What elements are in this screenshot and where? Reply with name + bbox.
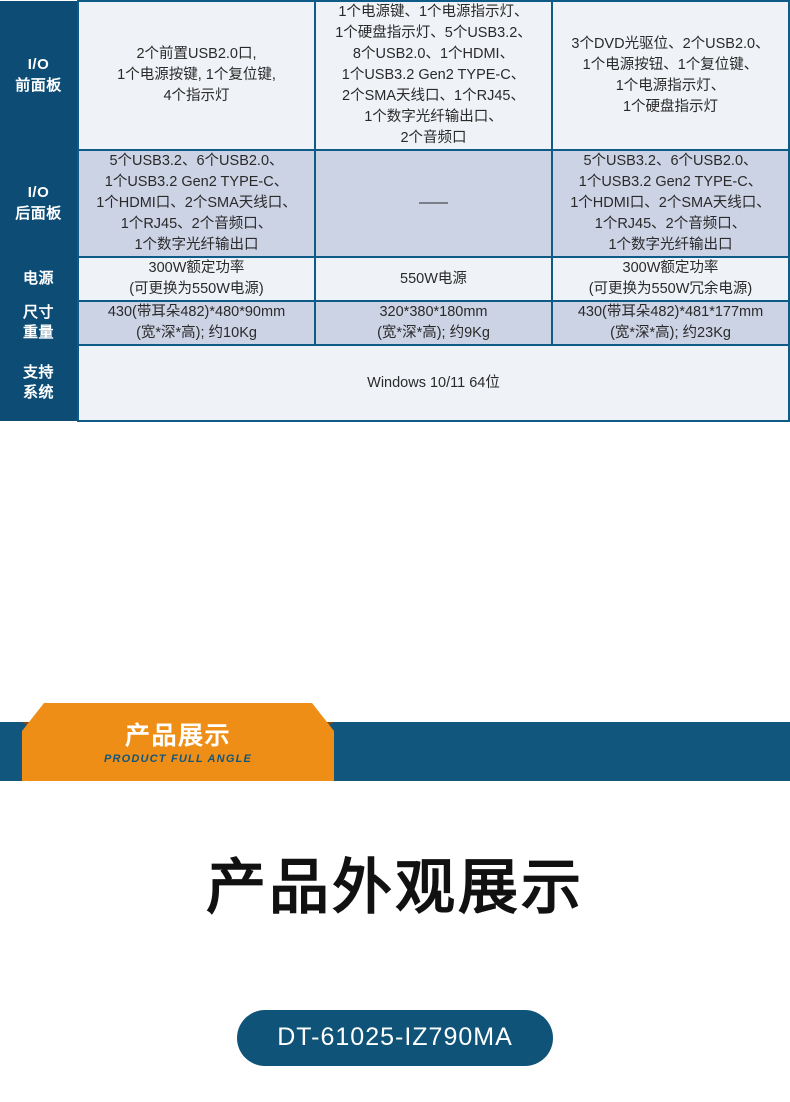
cell-line: 1个USB3.2 Gen2 TYPE-C、 xyxy=(79,172,314,193)
table-row: I/O 后面板 5个USB3.2、6个USB2.0、 1个USB3.2 Gen2… xyxy=(0,150,789,257)
cell-power-col3: 300W额定功率 (可更换为550W冗余电源) xyxy=(552,257,789,301)
cell-line: 550W电源 xyxy=(316,269,551,290)
cell-line: 1个USB3.2 Gen2 TYPE-C、 xyxy=(316,65,551,86)
row-header-line: 后面板 xyxy=(0,204,77,224)
ribbon-content: 产品展示 PRODUCT FULL ANGLE xyxy=(22,703,334,781)
cell-io-rear-col1: 5个USB3.2、6个USB2.0、 1个USB3.2 Gen2 TYPE-C、… xyxy=(78,150,315,257)
row-header-line: 电源 xyxy=(0,269,77,289)
cell-supported-os: Windows 10/11 64位 xyxy=(78,345,789,421)
cell-line: (宽*深*高); 约10Kg xyxy=(79,323,314,344)
cell-line: 1个HDMI口、2个SMA天线口、 xyxy=(79,193,314,214)
row-header-line: 重量 xyxy=(0,323,77,343)
table-row: I/O 前面板 2个前置USB2.0口, 1个电源按键, 1个复位键, 4个指示… xyxy=(0,1,789,150)
cell-line: 8个USB2.0、1个HDMI、 xyxy=(316,44,551,65)
row-header-line: 支持 xyxy=(0,363,77,383)
model-badge-container: DT-61025-IZ790MA xyxy=(0,1010,790,1066)
cell-size-col2: 320*380*180mm (宽*深*高); 约9Kg xyxy=(315,301,552,345)
cell-line: (宽*深*高); 约9Kg xyxy=(316,323,551,344)
cell-line: 5个USB3.2、6个USB2.0、 xyxy=(553,151,788,172)
cell-line: 2个前置USB2.0口, xyxy=(79,44,314,65)
cell-line: 3个DVD光驱位、2个USB2.0、 xyxy=(553,34,788,55)
cell-power-col1: 300W额定功率 (可更换为550W电源) xyxy=(78,257,315,301)
cell-line: 1个RJ45、2个音频口、 xyxy=(79,214,314,235)
cell-io-front-col3: 3个DVD光驱位、2个USB2.0、 1个电源按钮、1个复位键、 1个电源指示灯… xyxy=(552,1,789,150)
cell-size-col1: 430(带耳朵482)*480*90mm (宽*深*高); 约10Kg xyxy=(78,301,315,345)
cell-line: 1个HDMI口、2个SMA天线口、 xyxy=(553,193,788,214)
cell-line: 1个硬盘指示灯 xyxy=(553,97,788,118)
cell-line: 2个SMA天线口、1个RJ45、 xyxy=(316,86,551,107)
cell-io-front-col1: 2个前置USB2.0口, 1个电源按键, 1个复位键, 4个指示灯 xyxy=(78,1,315,150)
row-header-io-rear-panel: I/O 后面板 xyxy=(0,150,78,257)
specification-table: I/O 前面板 2个前置USB2.0口, 1个电源按键, 1个复位键, 4个指示… xyxy=(0,0,790,422)
cell-line: —— xyxy=(316,193,551,214)
cell-line: 320*380*180mm xyxy=(316,302,551,323)
row-header-power: 电源 xyxy=(0,257,78,301)
cell-line: 1个电源按钮、1个复位键、 xyxy=(553,55,788,76)
cell-line: 300W额定功率 xyxy=(79,258,314,279)
cell-line: 2个音频口 xyxy=(316,128,551,149)
row-header-size-weight: 尺寸 重量 xyxy=(0,301,78,345)
cell-size-col3: 430(带耳朵482)*481*177mm (宽*深*高); 约23Kg xyxy=(552,301,789,345)
cell-line: 300W额定功率 xyxy=(553,258,788,279)
cell-line: 1个USB3.2 Gen2 TYPE-C、 xyxy=(553,172,788,193)
cell-io-front-col2: 1个电源键、1个电源指示灯、 1个硬盘指示灯、5个USB3.2、 8个USB2.… xyxy=(315,1,552,150)
cell-line: 1个硬盘指示灯、5个USB3.2、 xyxy=(316,23,551,44)
cell-power-col2: 550W电源 xyxy=(315,257,552,301)
cell-line: (宽*深*高); 约23Kg xyxy=(553,323,788,344)
cell-line: 4个指示灯 xyxy=(79,86,314,107)
cell-line: Windows 10/11 64位 xyxy=(79,373,788,394)
cell-line: 5个USB3.2、6个USB2.0、 xyxy=(79,151,314,172)
cell-line: (可更换为550W电源) xyxy=(79,279,314,300)
table-row: 支持 系统 Windows 10/11 64位 xyxy=(0,345,789,421)
banner-title-cn: 产品展示 xyxy=(125,723,231,749)
table-row: 尺寸 重量 430(带耳朵482)*480*90mm (宽*深*高); 约10K… xyxy=(0,301,789,345)
banner-title-en: PRODUCT FULL ANGLE xyxy=(104,753,252,765)
cell-line: 1个电源指示灯、 xyxy=(553,76,788,97)
ribbon-shape: 产品展示 PRODUCT FULL ANGLE xyxy=(22,703,334,781)
row-header-line: I/O xyxy=(0,55,77,75)
row-header-io-front-panel: I/O 前面板 xyxy=(0,1,78,150)
cell-line: 1个电源键、1个电源指示灯、 xyxy=(316,2,551,23)
row-header-line: 尺寸 xyxy=(0,303,77,323)
row-header-line: I/O xyxy=(0,183,77,203)
cell-line: (可更换为550W冗余电源) xyxy=(553,279,788,300)
cell-line: 430(带耳朵482)*480*90mm xyxy=(79,302,314,323)
cell-line: 430(带耳朵482)*481*177mm xyxy=(553,302,788,323)
table-row: 电源 300W额定功率 (可更换为550W电源) 550W电源 300W额定功率… xyxy=(0,257,789,301)
cell-line: 1个数字光纤输出口、 xyxy=(316,107,551,128)
cell-io-rear-col3: 5个USB3.2、6个USB2.0、 1个USB3.2 Gen2 TYPE-C、… xyxy=(552,150,789,257)
row-header-line: 系统 xyxy=(0,383,77,403)
model-badge: DT-61025-IZ790MA xyxy=(237,1010,553,1066)
page-title: 产品外观展示 xyxy=(0,855,790,921)
cell-line: 1个电源按键, 1个复位键, xyxy=(79,65,314,86)
row-header-supported-os: 支持 系统 xyxy=(0,345,78,421)
cell-line: 1个数字光纤输出口 xyxy=(553,235,788,256)
cell-line: 1个RJ45、2个音频口、 xyxy=(553,214,788,235)
cell-io-rear-col2: —— xyxy=(315,150,552,257)
row-header-line: 前面板 xyxy=(0,76,77,96)
cell-line: 1个数字光纤输出口 xyxy=(79,235,314,256)
section-banner: 产品展示 PRODUCT FULL ANGLE xyxy=(0,703,790,781)
